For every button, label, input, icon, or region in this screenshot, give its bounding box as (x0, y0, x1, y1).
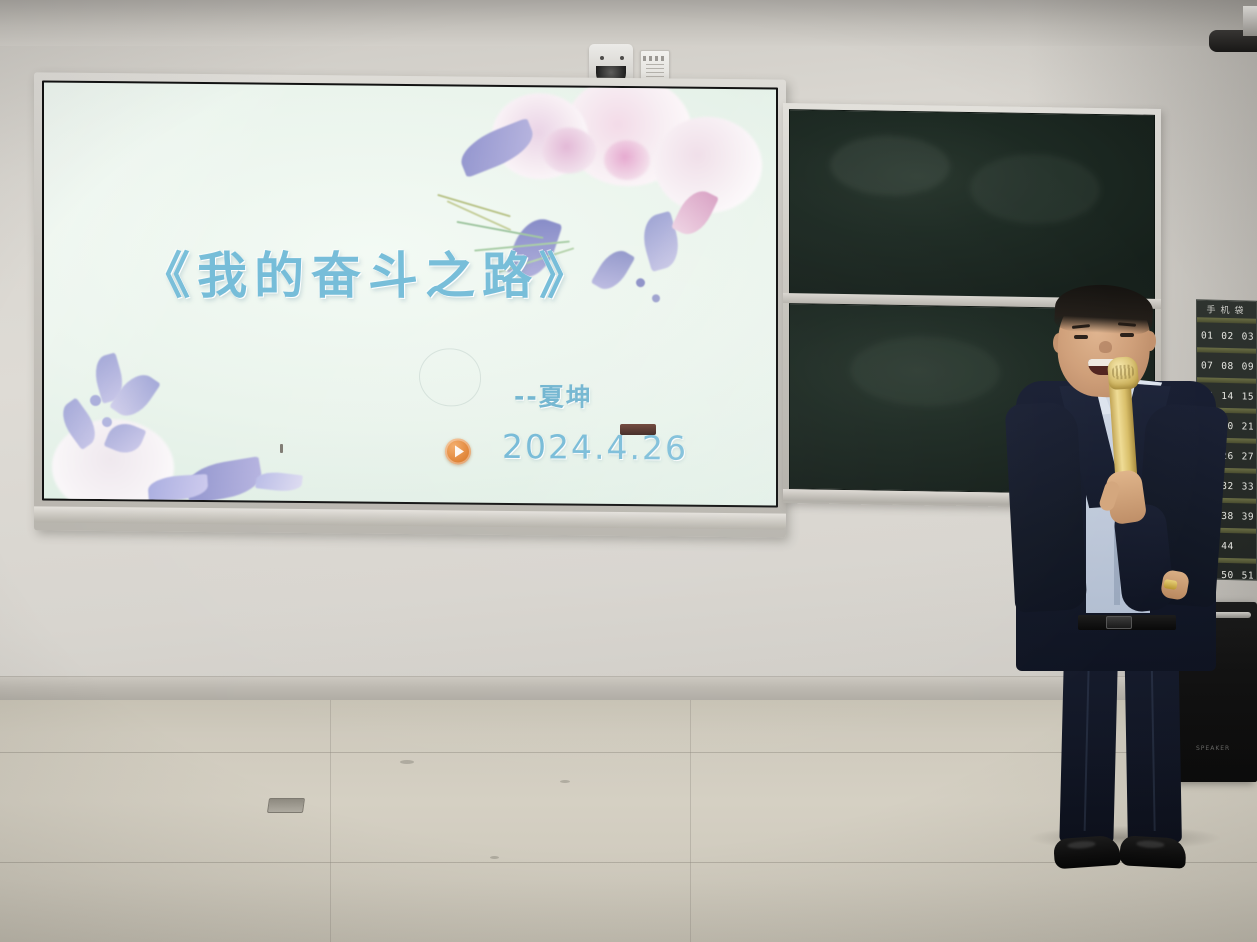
floor-mark-1 (400, 760, 414, 764)
shoe-shine-right (1136, 840, 1164, 848)
blackboard-upper-panel (789, 109, 1155, 301)
belt-buckle (1106, 616, 1132, 629)
floor-mark-2 (560, 780, 570, 783)
arm-left (1005, 401, 1088, 612)
projection-whiteboard: 《我的奋斗之路》 --夏坤 2024.4.26 (34, 72, 786, 537)
eye-right (1120, 333, 1134, 337)
pouch-cell[interactable]: 21 (1238, 421, 1257, 432)
hair (1054, 282, 1154, 335)
nose (1099, 341, 1112, 353)
shoe-shine-left (1067, 840, 1095, 849)
camera-led-right (620, 56, 624, 60)
chalk-eraser[interactable] (620, 424, 656, 435)
shoe-right (1119, 835, 1186, 868)
shoe-left (1053, 835, 1121, 870)
ceiling-mount-post (1243, 6, 1257, 36)
classroom-scene: 《我的奋斗之路》 --夏坤 2024.4.26 手机袋 01 (0, 0, 1257, 942)
floor-seam-v1 (330, 700, 331, 942)
chalk-smudge-3 (850, 335, 1000, 407)
camera-led-left (600, 56, 604, 60)
eye-left (1074, 335, 1088, 339)
microphone-grille (1112, 364, 1135, 380)
pouch-cell[interactable]: 33 (1238, 481, 1257, 492)
screen-glare (44, 82, 776, 505)
floor-mark-3 (490, 856, 499, 859)
floor-outlet[interactable] (267, 798, 305, 813)
pouch-cell[interactable]: 03 (1238, 331, 1257, 342)
floor-seam-v2 (690, 700, 691, 942)
projected-slide: 《我的奋斗之路》 --夏坤 2024.4.26 (44, 82, 776, 505)
pouch-cell[interactable]: 09 (1238, 361, 1257, 372)
pouch-cell[interactable]: 51 (1238, 570, 1257, 580)
pouch-cell[interactable]: 39 (1238, 511, 1257, 522)
pouch-cell[interactable]: 15 (1238, 391, 1257, 402)
whiteboard-chalk-tray (34, 506, 786, 529)
chalk-smudge-1 (830, 135, 950, 197)
switch-indicator-dots (643, 56, 667, 61)
tray-screw (280, 444, 283, 453)
pouch-cell[interactable]: 27 (1238, 451, 1257, 462)
chalk-smudge-2 (970, 153, 1100, 225)
whiteboard-bezel: 《我的奋斗之路》 --夏坤 2024.4.26 (42, 80, 778, 507)
presenter-figure (1000, 285, 1230, 855)
